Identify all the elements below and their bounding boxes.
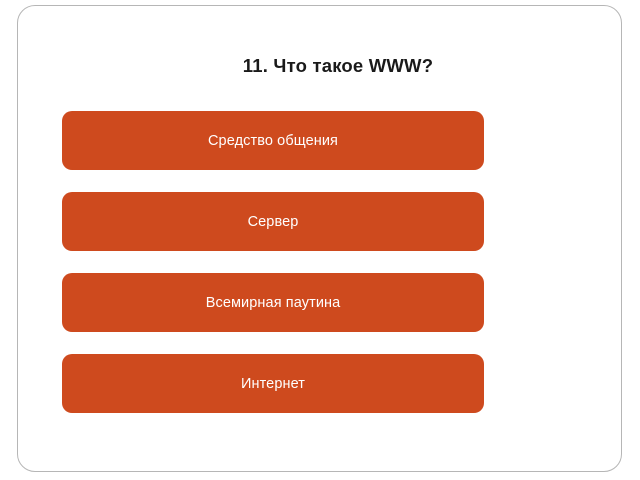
page-title: 11. Что такое WWW? (18, 54, 640, 78)
answer-option-label: Сервер (248, 213, 299, 231)
slide-frame: 11. Что такое WWW? Средство общения Серв… (17, 5, 622, 472)
answer-option-label: Интернет (241, 375, 305, 393)
answer-option-4[interactable]: Интернет (62, 354, 484, 413)
answer-option-2[interactable]: Сервер (62, 192, 484, 251)
answer-options-list: Средство общения Сервер Всемирная паутин… (62, 111, 484, 413)
answer-option-3[interactable]: Всемирная паутина (62, 273, 484, 332)
answer-option-label: Средство общения (208, 132, 338, 150)
answer-option-label: Всемирная паутина (206, 294, 341, 312)
answer-option-1[interactable]: Средство общения (62, 111, 484, 170)
